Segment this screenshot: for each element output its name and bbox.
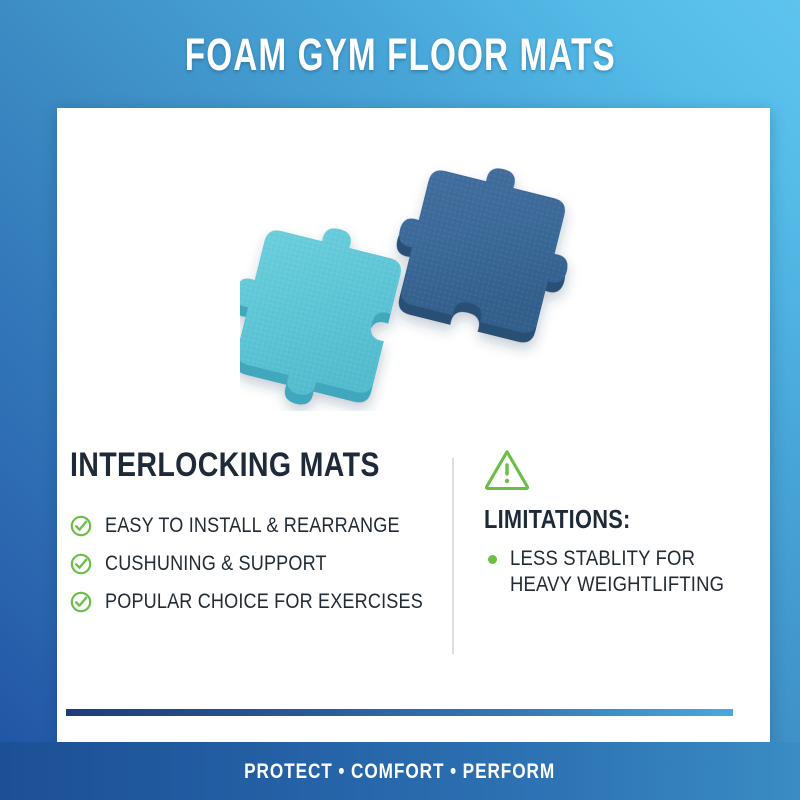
feature-label: CUSHUNING & SUPPORT	[105, 553, 327, 574]
check-circle-icon	[70, 591, 92, 613]
limitation-label: LESS STABLITY FOR HEAVY WEIGHTLIFTING	[510, 546, 724, 597]
feature-label: EASY TO INSTALL & REARRANGE	[105, 515, 400, 536]
footer-tagline: PROTECT • COMFORT • PERFORM	[245, 761, 556, 782]
limitations-column: LIMITATIONS: LESS STABLITY FOR HEAVY WEI…	[484, 448, 754, 597]
limitation-item: LESS STABLITY FOR HEAVY WEIGHTLIFTING	[484, 546, 754, 597]
bullet-dot-icon	[488, 555, 497, 564]
puzzle-piece-dark	[380, 148, 587, 349]
limitations-heading: LIMITATIONS:	[484, 506, 711, 532]
section-heading: INTERLOCKING MATS	[70, 448, 385, 482]
feature-item: CUSHUNING & SUPPORT	[70, 550, 445, 577]
puzzle-piece-light	[240, 208, 408, 411]
feature-item: EASY TO INSTALL & REARRANGE	[70, 512, 445, 539]
poster-root: FOAM GYM FLOOR MATS	[0, 0, 800, 800]
illustration-area	[57, 108, 770, 448]
warning-triangle-icon	[484, 448, 530, 490]
feature-item: POPULAR CHOICE FOR EXERCISES	[70, 588, 445, 615]
column-divider	[452, 458, 454, 654]
footer-bar: PROTECT • COMFORT • PERFORM	[0, 742, 800, 800]
benefits-column: INTERLOCKING MATS EASY TO INSTALL & REAR…	[70, 448, 445, 626]
accent-rule	[66, 709, 733, 716]
content-card: INTERLOCKING MATS EASY TO INSTALL & REAR…	[57, 108, 770, 742]
check-circle-icon	[70, 553, 92, 575]
header-bar: FOAM GYM FLOOR MATS	[0, 0, 800, 108]
feature-label: POPULAR CHOICE FOR EXERCISES	[105, 591, 423, 612]
info-section: INTERLOCKING MATS EASY TO INSTALL & REAR…	[57, 448, 770, 678]
page-title: FOAM GYM FLOOR MATS	[184, 32, 615, 77]
check-circle-icon	[70, 515, 92, 537]
interlocking-puzzle-mats-icon	[240, 146, 590, 411]
